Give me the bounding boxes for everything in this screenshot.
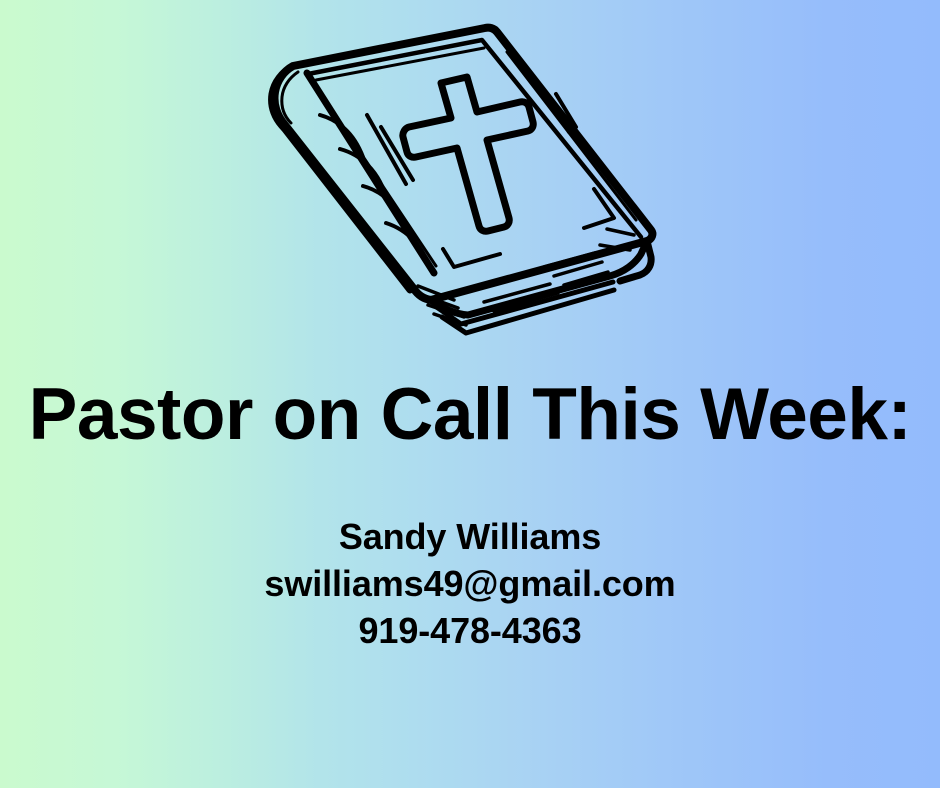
page-title: Pastor on Call This Week: [0,378,940,451]
pastor-name: Sandy Williams [0,513,940,560]
contact-block: Sandy Williams swilliams49@gmail.com 919… [0,513,940,654]
pastor-phone[interactable]: 919-478-4363 [0,607,940,654]
cover-fold-lines [367,94,614,267]
bible-book-illustration [258,14,668,356]
cross-emblem [403,77,533,231]
pastor-email[interactable]: swilliams49@gmail.com [0,560,940,607]
poster-canvas: Pastor on Call This Week: Sandy Williams… [0,0,940,788]
